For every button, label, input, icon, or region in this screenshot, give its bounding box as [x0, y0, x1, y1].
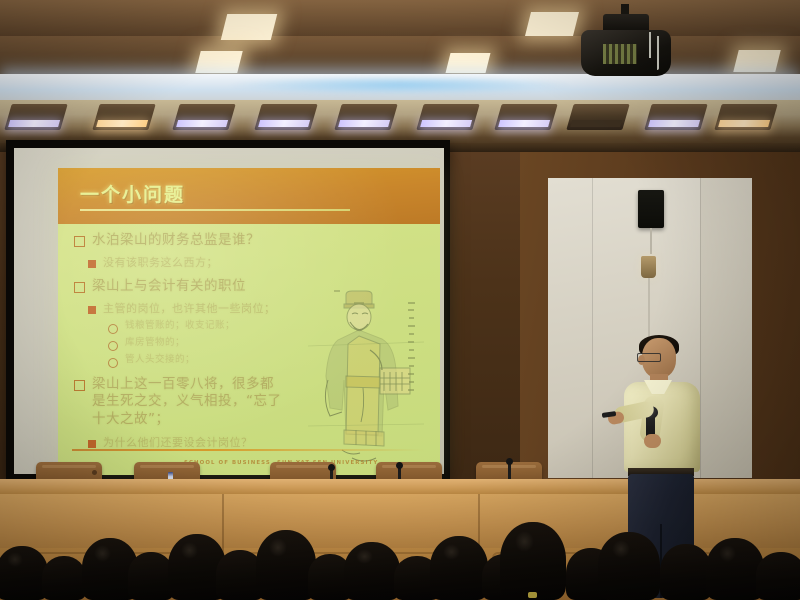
audience-head [598, 532, 660, 600]
wall-panel-seam [592, 178, 593, 478]
wall-light-box-icon [4, 104, 67, 130]
bullet-square-hollow-icon [74, 282, 85, 293]
cove-light-blue-glow [230, 76, 570, 94]
bullet-text: 没有该职务这么西方； [103, 256, 218, 270]
projector-cable [649, 32, 651, 58]
wall-light-box-icon [92, 104, 155, 130]
wall-light-box-icon [334, 104, 397, 130]
slide-footer-rule [72, 449, 424, 451]
lecture-hall-photo: 一个小问题 水泊梁山的财务总监是谁？ 没有该职务这么西方； 梁山上与会计有关的职… [0, 0, 800, 600]
bullet-text: 钱粮管账的；收支记账； [125, 320, 235, 332]
bullet-circle-hollow-icon [108, 358, 118, 368]
bullet-circle-hollow-icon [108, 324, 118, 334]
bullet-text: 为什么他们还要设会计岗位？ [103, 436, 253, 450]
wall-light-box-icon [566, 104, 629, 130]
wall-light-box-icon [494, 104, 557, 130]
audience-head [756, 552, 800, 600]
bullet-square-hollow-icon [74, 236, 85, 247]
bullet-text: 梁山上这一百零八将，很多都是生死之交，义气相投，“忘了十大之故”； [92, 376, 286, 428]
wall-light-box-icon [254, 104, 317, 130]
ceiling-downlight-icon [221, 14, 277, 40]
wall-light-box-icon [714, 104, 777, 130]
ceiling-downlight-icon [525, 12, 579, 36]
slide-bullet: 主管的岗位，也许其他一些岗位； [74, 302, 292, 316]
slide-figure-scholar [308, 284, 424, 474]
projector-cable [657, 36, 659, 70]
audience-head [430, 536, 488, 600]
bullet-text: 库房管物的； [125, 337, 185, 349]
chair-knob-icon [92, 470, 97, 475]
bullet-text: 梁山上与会计有关的职位 [92, 278, 246, 295]
ceiling-downlight-icon [195, 51, 242, 73]
bullet-square-solid-icon [88, 306, 96, 314]
wall-light-box-icon [172, 104, 235, 130]
slide-title: 一个小问题 [80, 180, 185, 207]
slide-bullet: 水泊梁山的财务总监是谁？ [74, 232, 296, 249]
speaker-cable [650, 228, 652, 254]
wall-light-box-icon [416, 104, 479, 130]
wall-speaker-icon [638, 190, 664, 228]
bullet-square-hollow-icon [74, 380, 85, 391]
audience-head [344, 542, 400, 600]
bullet-square-solid-icon [88, 260, 96, 268]
bullet-circle-hollow-icon [108, 341, 118, 351]
bullet-text: 水泊梁山的财务总监是谁？ [92, 232, 260, 249]
audience-head [256, 530, 316, 600]
ceiling-projector [575, 14, 675, 76]
ceiling-beam-rear [0, 36, 800, 76]
bullet-text: 主管的岗位，也许其他一些岗位； [103, 302, 276, 316]
wall-sconce-icon [641, 256, 656, 278]
presenter-shirt [624, 382, 700, 472]
slide-bullet: 梁山上与会计有关的职位 [74, 278, 296, 295]
presenter-right-hand [644, 434, 661, 448]
audience-head [500, 522, 566, 600]
audience-head [0, 546, 48, 600]
wall-light-box-icon [644, 104, 707, 130]
slide-bullet: 梁山上这一百零八将，很多都是生死之交，义气相投，“忘了十大之故”； [74, 376, 286, 428]
audience-row [0, 520, 800, 600]
ceiling-beam-front [0, 0, 800, 38]
audience-head [42, 556, 86, 600]
glasses-icon [637, 353, 661, 362]
projector-cable-bundle [603, 44, 637, 64]
slide-bullet: 没有该职务这么西方； [74, 256, 284, 270]
slide-bullet: 管人头交接的； [74, 354, 274, 368]
slide-body: 水泊梁山的财务总监是谁？ 没有该职务这么西方； 梁山上与会计有关的职位 主管的岗… [58, 224, 440, 475]
slide-title-rule [80, 209, 350, 211]
ceiling-downlight-icon [446, 53, 491, 73]
hair-clip-icon [528, 592, 537, 598]
slide-bullet: 库房管物的； [74, 337, 274, 351]
projected-slide: 一个小问题 水泊梁山的财务总监是谁？ 没有该职务这么西方； 梁山上与会计有关的职… [58, 168, 440, 475]
ceiling-downlight-icon [733, 50, 780, 72]
sconce-cable [648, 278, 650, 340]
bullet-text: 管人头交接的； [125, 354, 195, 366]
audience-head [660, 544, 712, 600]
bullet-square-solid-icon [88, 440, 96, 448]
slide-bullet: 钱粮管账的；收支记账； [74, 320, 274, 334]
slide-bullet: 为什么他们还要设会计岗位？ [74, 436, 294, 450]
